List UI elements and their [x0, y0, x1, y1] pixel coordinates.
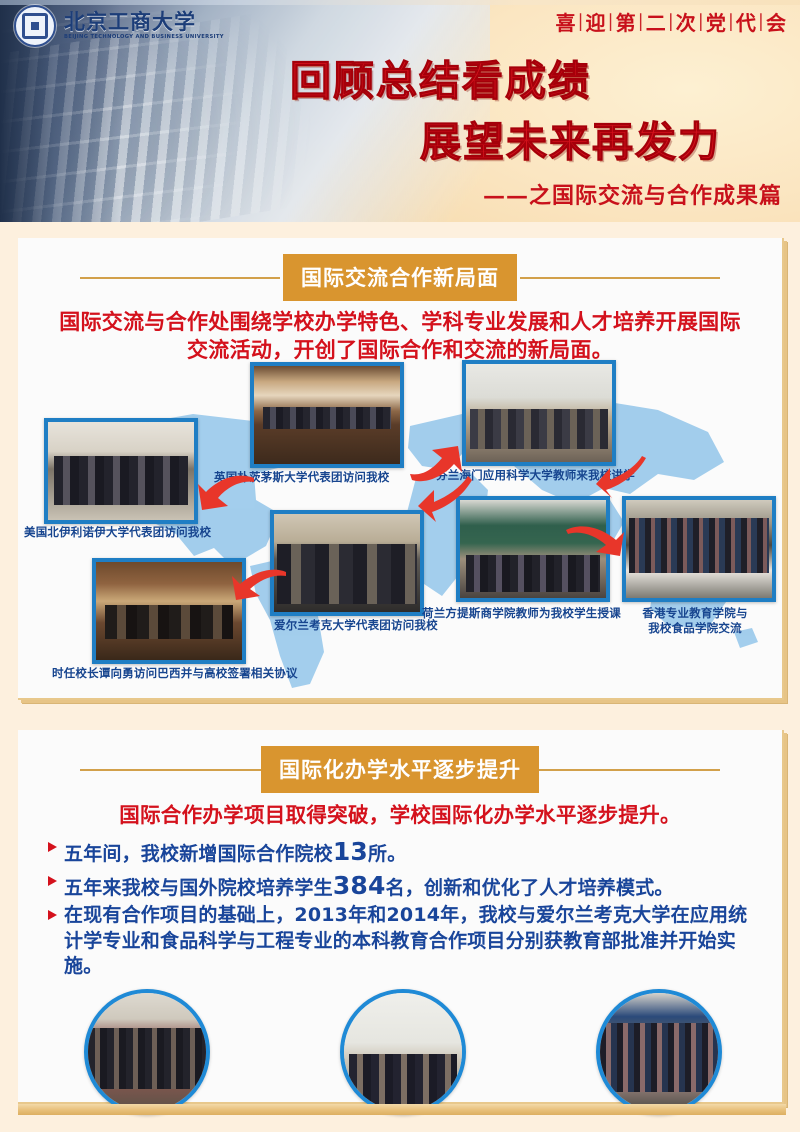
bullet-text-post: 名，创新和优化了人才培养模式。: [386, 877, 674, 899]
bullet-text: 在现有合作项目的基础上，2013年和2014年，我校与爱尔兰考克大学在应用统计学…: [64, 903, 756, 978]
photo-portsmouth-delegation: [250, 362, 404, 468]
caption-fontys-teaching: 荷兰方提斯商学院教师为我校学生授课: [422, 606, 621, 620]
circle-photo-ucc-delegation: [340, 989, 466, 1115]
slogan-char: 次: [676, 7, 696, 36]
slogan-char: 党: [706, 7, 726, 36]
caption-brazil-signing: 时任校长谭向勇访问巴西并与高校签署相关协议: [52, 666, 298, 680]
section-international-exchange: 国际交流合作新局面 国际交流与合作处围绕学校办学特色、学科专业发展和人才培养开展…: [18, 238, 784, 700]
section-internationalization-level: 国际化办学水平逐步提升 国际合作办学项目取得突破，学校国际化办学水平逐步提升。 …: [18, 730, 784, 1104]
slogan-char: 第: [616, 7, 636, 36]
arrow-to-brazil-icon: [228, 562, 288, 602]
triangle-bullet-icon: [48, 842, 57, 852]
poster-header: 北京工商大学 BEIJING TECHNOLOGY AND BUSINESS U…: [0, 0, 800, 222]
bullet-text-pre: 五年间，我校新增国际合作院校: [64, 843, 333, 865]
arrow-to-hkive-icon: [564, 518, 628, 558]
caption-ucc-delegation: 爱尔兰考克大学代表团访问我校: [274, 618, 438, 632]
bullet-number: 384: [333, 871, 386, 900]
photo-ucc-delegation: [270, 510, 424, 616]
section1-badge: 国际交流合作新局面: [283, 254, 517, 301]
congress-slogan: 喜|迎|第|二|次|党|代|会: [555, 7, 786, 36]
footer-gold-strip: [18, 1104, 786, 1115]
section2-header: 国际化办学水平逐步提升: [18, 746, 782, 792]
university-logo: 北京工商大学 BEIJING TECHNOLOGY AND BUSINESS U…: [14, 5, 224, 47]
photo-content: [88, 993, 206, 1111]
world-map-area: 美国北伊利诺伊大学代表团访问我校 英国朴茨茅斯大学代表团访问我校 芬兰海门应用科…: [18, 370, 782, 700]
poster-title-line2: 展望未来再发力: [420, 108, 721, 168]
list-item: 五年来我校与国外院校培养学生384名，创新和优化了人才培养模式。: [48, 869, 756, 902]
bottom-photo-row: [18, 987, 782, 1115]
triangle-bullet-icon: [48, 876, 57, 886]
caption-niu-delegation: 美国北伊利诺伊大学代表团访问我校: [24, 525, 211, 539]
list-item: 在现有合作项目的基础上，2013年和2014年，我校与爱尔兰考克大学在应用统计学…: [48, 903, 756, 978]
photo-niu-delegation: [44, 418, 198, 524]
slogan-separator: |: [668, 11, 674, 32]
photo-content: [274, 514, 420, 612]
slogan-char: 二: [646, 7, 666, 36]
photo-hkive-exchange: [622, 496, 776, 602]
university-seal-icon: [14, 5, 56, 47]
slogan-separator: |: [638, 11, 644, 32]
photo-content: [466, 364, 612, 462]
logo-text-block: 北京工商大学 BEIJING TECHNOLOGY AND BUSINESS U…: [64, 11, 224, 40]
section1-lead-text: 国际交流与合作处围绕学校办学特色、学科专业发展和人才培养开展国际交流活动，开创了…: [52, 308, 748, 364]
slogan-char: 代: [736, 7, 756, 36]
bullet-number: 13: [333, 837, 368, 866]
photo-hamk-lecture: [462, 360, 616, 466]
list-item: 五年间，我校新增国际合作院校13所。: [48, 835, 756, 868]
logo-name-en: BEIJING TECHNOLOGY AND BUSINESS UNIVERSI…: [64, 35, 224, 40]
circle-photo-students: [596, 989, 722, 1115]
slogan-separator: |: [698, 11, 704, 32]
bullet-text-post: 所。: [368, 843, 406, 865]
section2-rule-right: [520, 769, 720, 771]
photo-content: [344, 993, 462, 1111]
photo-brazil-signing: [92, 558, 246, 664]
section2-lead-text: 国际合作办学项目取得突破，学校国际化办学水平逐步提升。: [52, 802, 748, 829]
arrow-to-niu-icon: [196, 470, 256, 516]
photo-content: [48, 422, 194, 520]
poster-subtitle: ——之国际交流与合作成果篇: [483, 178, 782, 210]
bullet-text: 五年来我校与国外院校培养学生384名，创新和优化了人才培养模式。: [64, 869, 674, 902]
arrow-to-hamk-icon: [416, 476, 472, 524]
slogan-char: 喜: [555, 7, 575, 36]
slogan-char: 会: [766, 7, 786, 36]
circle-photo-meeting: [84, 989, 210, 1115]
section1-rule-right: [520, 277, 720, 279]
photo-content: [626, 500, 772, 598]
poster-page: 北京工商大学 BEIJING TECHNOLOGY AND BUSINESS U…: [0, 0, 800, 1132]
photo-content: [600, 993, 718, 1111]
slogan-separator: |: [577, 11, 583, 32]
arrow-to-ucc-icon: [596, 456, 648, 500]
triangle-bullet-icon: [48, 910, 57, 920]
section2-rule-left: [80, 769, 280, 771]
slogan-separator: |: [758, 11, 764, 32]
section1-rule-left: [80, 277, 280, 279]
section1-header: 国际交流合作新局面: [18, 254, 782, 300]
bullet-text-pre: 五年来我校与国外院校培养学生: [64, 877, 333, 899]
slogan-separator: |: [608, 11, 614, 32]
bullet-text: 五年间，我校新增国际合作院校13所。: [64, 835, 406, 868]
photo-content: [96, 562, 242, 660]
caption-hkive-exchange: 香港专业教育学院与 我校食品学院交流: [630, 606, 760, 635]
slogan-char: 迎: [586, 7, 606, 36]
logo-name-cn: 北京工商大学: [64, 11, 224, 32]
poster-title-line1: 回顾总结看成绩: [290, 47, 591, 107]
section2-badge: 国际化办学水平逐步提升: [261, 746, 539, 793]
photo-content: [254, 366, 400, 464]
slogan-separator: |: [728, 11, 734, 32]
achievement-bullet-list: 五年间，我校新增国际合作院校13所。 五年来我校与国外院校培养学生384名，创新…: [48, 835, 756, 978]
